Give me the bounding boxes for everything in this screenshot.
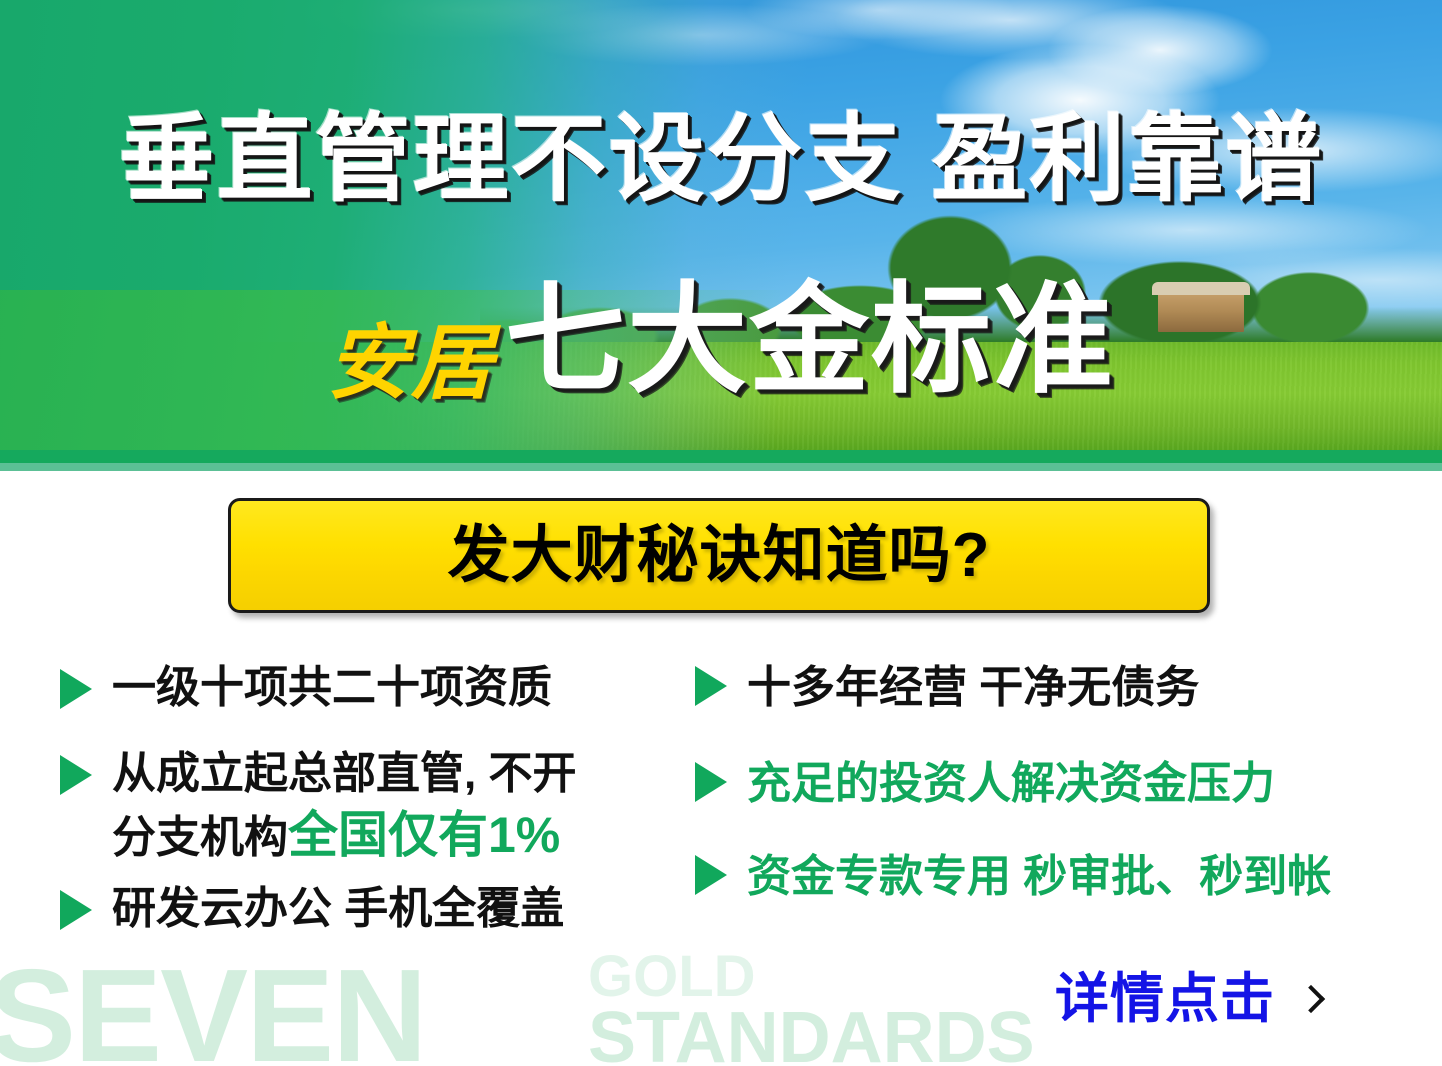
feature-item-right-1: 十多年经营 干净无债务 <box>695 660 1415 716</box>
feature-item-right-2-text: 充足的投资人解决资金压力 <box>747 756 1275 812</box>
hero-brand-name: 安居 <box>327 323 495 405</box>
divider-strip-dark <box>0 450 1442 463</box>
feature-item-right-3: 资金专款专用 秒审批、秒到帐 <box>695 849 1415 905</box>
chevron-right-icon <box>1297 985 1325 1013</box>
feature-item-left-3: 研发云办公 手机全覆盖 <box>60 881 700 937</box>
feature-item-right-2: 充足的投资人解决资金压力 <box>695 756 1415 812</box>
highlight-banner[interactable]: 发大财秘诀知道吗? <box>228 498 1210 613</box>
hero-headline-primary: 垂直管理不设分支 盈利靠谱 <box>0 112 1442 208</box>
highlight-banner-text: 发大财秘诀知道吗? <box>448 525 991 587</box>
feature-column-left: 一级十项共二十项资质 从成立起总部直管, 不开 分支机构全国仅有1% 研发云办公… <box>60 660 700 937</box>
watermark-standards: STANDARDS <box>588 1002 1035 1066</box>
feature-item-left-3-text: 研发云办公 手机全覆盖 <box>112 881 564 937</box>
hero-headline-secondary-row: 安居七大金标准 <box>0 280 1442 400</box>
feature-item-left-1: 一级十项共二十项资质 <box>60 660 700 716</box>
triangle-bullet-icon <box>695 666 727 706</box>
feature-item-left-2-text: 从成立起总部直管, 不开 分支机构全国仅有1% <box>112 746 576 866</box>
divider-strip-light <box>0 463 1442 471</box>
details-cta-link[interactable]: 详情点击 <box>1055 972 1321 1026</box>
feature-list: 一级十项共二十项资质 从成立起总部直管, 不开 分支机构全国仅有1% 研发云办公… <box>0 660 1442 1000</box>
feature-item-left-2: 从成立起总部直管, 不开 分支机构全国仅有1% <box>60 746 700 866</box>
hero-headline-secondary: 七大金标准 <box>505 280 1115 400</box>
feature-item-left-2-highlight: 全国仅有1% <box>288 807 560 863</box>
feature-item-right-1-text: 十多年经营 干净无债务 <box>747 660 1199 716</box>
feature-item-right-3-text: 资金专款专用 秒审批、秒到帐 <box>747 849 1331 905</box>
hero-banner: 垂直管理不设分支 盈利靠谱 安居七大金标准 <box>0 0 1442 450</box>
details-cta-label: 详情点击 <box>1055 972 1275 1026</box>
feature-column-right: 十多年经营 干净无债务 充足的投资人解决资金压力 资金专款专用 秒审批、秒到帐 <box>695 660 1415 905</box>
triangle-bullet-icon <box>60 755 92 795</box>
triangle-bullet-icon <box>60 890 92 930</box>
feature-item-left-1-text: 一级十项共二十项资质 <box>112 660 552 716</box>
promo-poster: 垂直管理不设分支 盈利靠谱 安居七大金标准 发大财秘诀知道吗? SEVEN GO… <box>0 0 1442 1066</box>
feature-item-left-2-line2-prefix: 分支机构 <box>112 813 288 862</box>
triangle-bullet-icon <box>695 855 727 895</box>
feature-item-left-2-line1: 从成立起总部直管, 不开 <box>112 749 576 798</box>
triangle-bullet-icon <box>695 762 727 802</box>
triangle-bullet-icon <box>60 669 92 709</box>
